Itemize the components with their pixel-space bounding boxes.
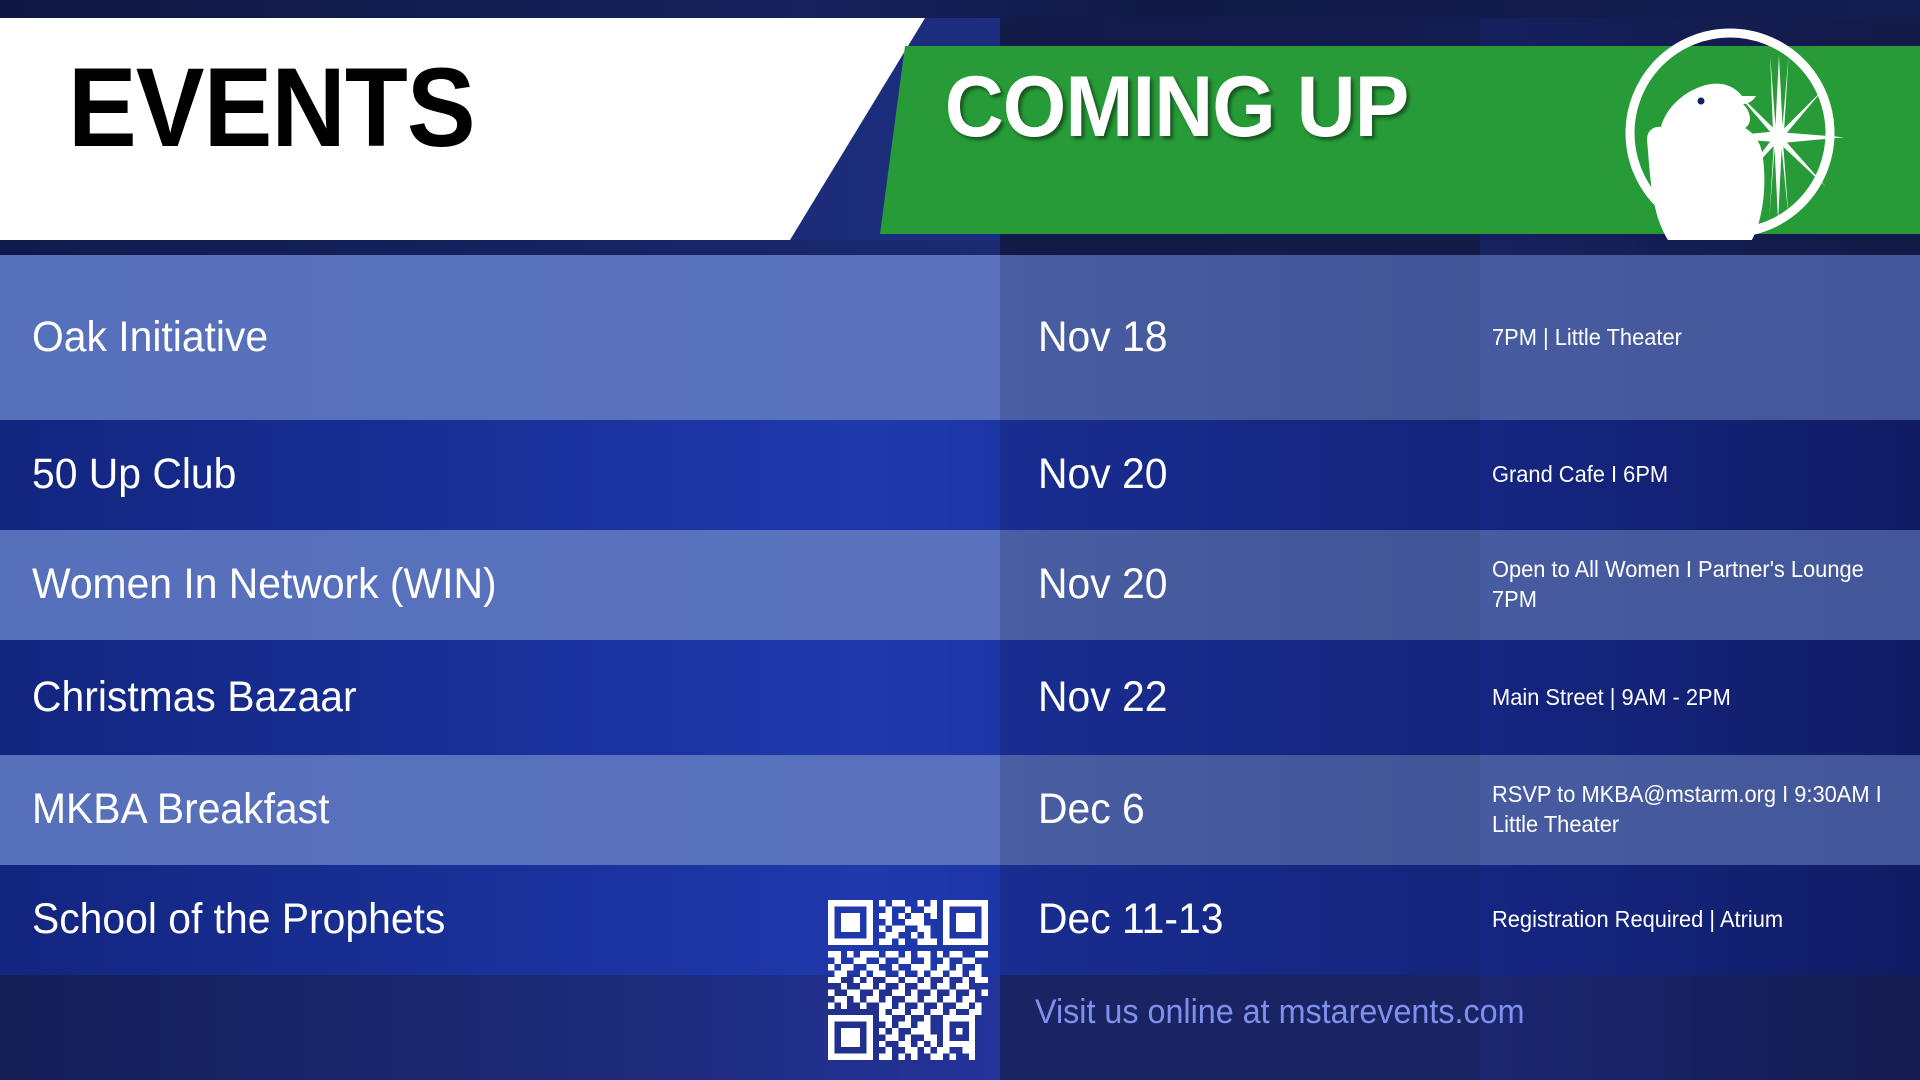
cell-info: Registration Required | Atrium (1480, 865, 1920, 975)
event-date: Dec 6 (1038, 787, 1145, 832)
table-row: 50 Up ClubNov 20Grand Cafe I 6PM (0, 420, 1920, 530)
event-date: Nov 22 (1038, 675, 1167, 720)
event-info: Main Street | 9AM - 2PM (1492, 683, 1731, 713)
event-info: Grand Cafe I 6PM (1492, 460, 1668, 490)
event-info: RSVP to MKBA@mstarm.org I 9:30AM I Littl… (1492, 780, 1899, 840)
event-name: Women In Network (WIN) (32, 562, 497, 607)
cell-info: RSVP to MKBA@mstarm.org I 9:30AM I Littl… (1480, 755, 1920, 865)
events-table: Oak InitiativeNov 187PM | Little Theater… (0, 255, 1920, 865)
table-row: Christmas BazaarNov 22Main Street | 9AM … (0, 640, 1920, 755)
table-row: Women In Network (WIN)Nov 20Open to All … (0, 530, 1920, 640)
table-row: Oak InitiativeNov 187PM | Little Theater (0, 255, 1920, 420)
coming-up-title: COMING UP (920, 64, 1433, 150)
cell-info: Main Street | 9AM - 2PM (1480, 640, 1920, 755)
event-date: Nov 20 (1038, 452, 1167, 497)
event-date: Nov 18 (1038, 315, 1167, 360)
qr-code[interactable] (828, 890, 988, 1070)
cell-what: Oak Initiative (0, 255, 1000, 420)
table-row: MKBA BreakfastDec 6RSVP to MKBA@mstarm.o… (0, 755, 1920, 865)
event-name: School of the Prophets (32, 897, 445, 942)
eagle-star-logo (1605, 22, 1855, 244)
cell-when: Nov 22 (1000, 640, 1480, 755)
cell-what: Christmas Bazaar (0, 640, 1000, 755)
event-name: 50 Up Club (32, 452, 236, 497)
cell-what: 50 Up Club (0, 420, 1000, 530)
cell-when: Dec 6 (1000, 755, 1480, 865)
event-date: Dec 11-13 (1038, 897, 1223, 942)
event-name: Christmas Bazaar (32, 675, 357, 720)
page-header: EVENTS COMING UP (0, 0, 1920, 250)
cell-info: 7PM | Little Theater (1480, 255, 1920, 420)
event-date: Nov 20 (1038, 562, 1167, 607)
cell-when: Dec 11-13 (1000, 865, 1480, 975)
cell-when: Nov 20 (1000, 530, 1480, 640)
event-info: Registration Required | Atrium (1492, 905, 1783, 935)
cell-info: Grand Cafe I 6PM (1480, 420, 1920, 530)
page-title: EVENTS (68, 52, 475, 164)
visit-online-text[interactable]: Visit us online at mstarevents.com (1035, 995, 1525, 1029)
cell-info: Open to All Women I Partner's Lounge 7PM (1480, 530, 1920, 640)
event-info: 7PM | Little Theater (1492, 323, 1682, 353)
event-name: MKBA Breakfast (32, 787, 329, 832)
cell-when: Nov 20 (1000, 420, 1480, 530)
event-name: Oak Initiative (32, 315, 268, 360)
cell-what: Women In Network (WIN) (0, 530, 1000, 640)
cell-what: MKBA Breakfast (0, 755, 1000, 865)
cell-when: Nov 18 (1000, 255, 1480, 420)
event-info: Open to All Women I Partner's Lounge 7PM (1492, 555, 1899, 615)
